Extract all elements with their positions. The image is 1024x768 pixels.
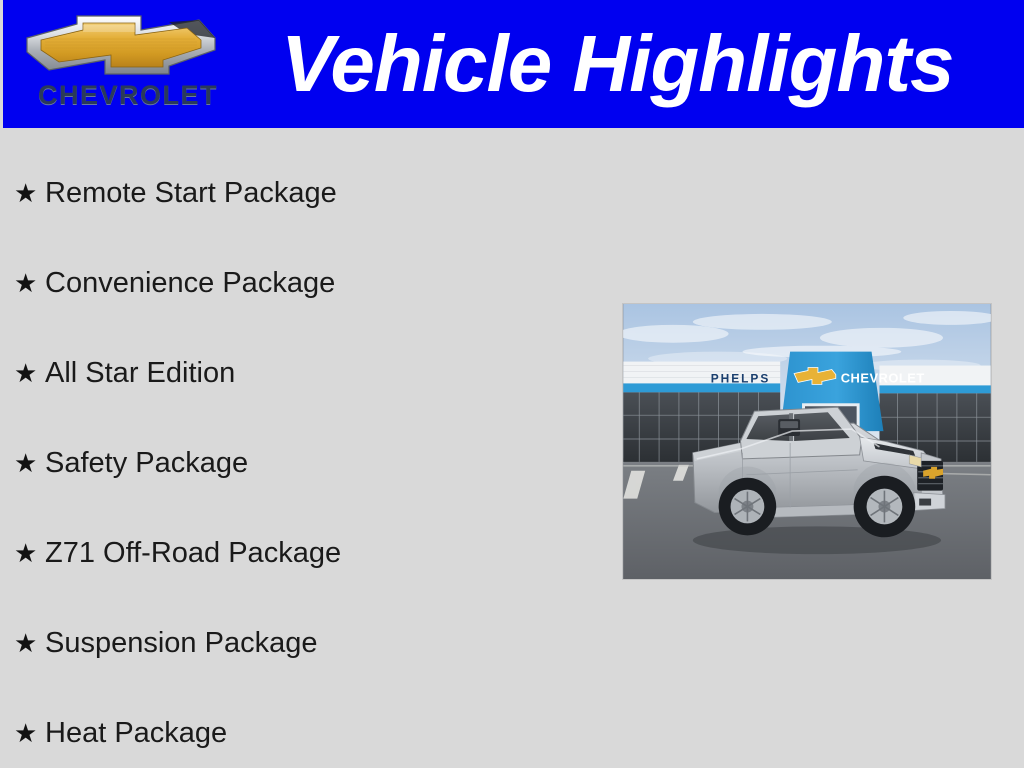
truck-front-wheel [854, 463, 916, 538]
highlight-label: Heat Package [45, 717, 227, 750]
highlight-label: Remote Start Package [45, 177, 337, 210]
star-bullet-icon: ★ [14, 540, 45, 566]
highlight-label: Safety Package [45, 447, 248, 480]
list-item: ★ Safety Package [0, 418, 600, 508]
list-item: ★ All Star Edition [0, 328, 600, 418]
slide-header-bar: CHEVROLET Vehicle Highlights [3, 0, 1024, 128]
list-item: ★ Convenience Package [0, 238, 600, 328]
star-bullet-icon: ★ [14, 720, 45, 746]
star-bullet-icon: ★ [14, 450, 45, 476]
svg-text:CHEVROLET: CHEVROLET [841, 370, 925, 385]
vehicle-photo: PHELPS CHEVROLET [622, 303, 992, 580]
highlight-label: Convenience Package [45, 267, 335, 300]
chevrolet-bowtie-icon [19, 12, 223, 78]
dealership-name-sign: PHELPS [711, 371, 771, 385]
vehicle-highlights-slide: CHEVROLET Vehicle Highlights ★ Remote St… [0, 0, 1024, 768]
dealership-brand-sign: CHEVROLET [794, 368, 925, 386]
list-item: ★ Remote Start Package [0, 148, 600, 238]
highlight-label: All Star Edition [45, 357, 235, 390]
chevrolet-wordmark: CHEVROLET [33, 82, 223, 109]
list-item: ★ Heat Package [0, 688, 600, 768]
star-bullet-icon: ★ [14, 360, 45, 386]
highlight-label: Suspension Package [45, 627, 317, 660]
page-title: Vehicle Highlights [281, 16, 1001, 116]
chevrolet-brand-logo: CHEVROLET [19, 8, 223, 120]
list-item: ★ Suspension Package [0, 598, 600, 688]
truck-mirror [778, 419, 800, 436]
vehicle-highlights-list: ★ Remote Start Package ★ Convenience Pac… [0, 148, 600, 768]
highlight-label: Z71 Off-Road Package [45, 537, 341, 570]
list-item: ★ Z71 Off-Road Package [0, 508, 600, 598]
star-bullet-icon: ★ [14, 270, 45, 296]
star-bullet-icon: ★ [14, 630, 45, 656]
truck-rear-wheel [719, 466, 777, 535]
star-bullet-icon: ★ [14, 180, 45, 206]
